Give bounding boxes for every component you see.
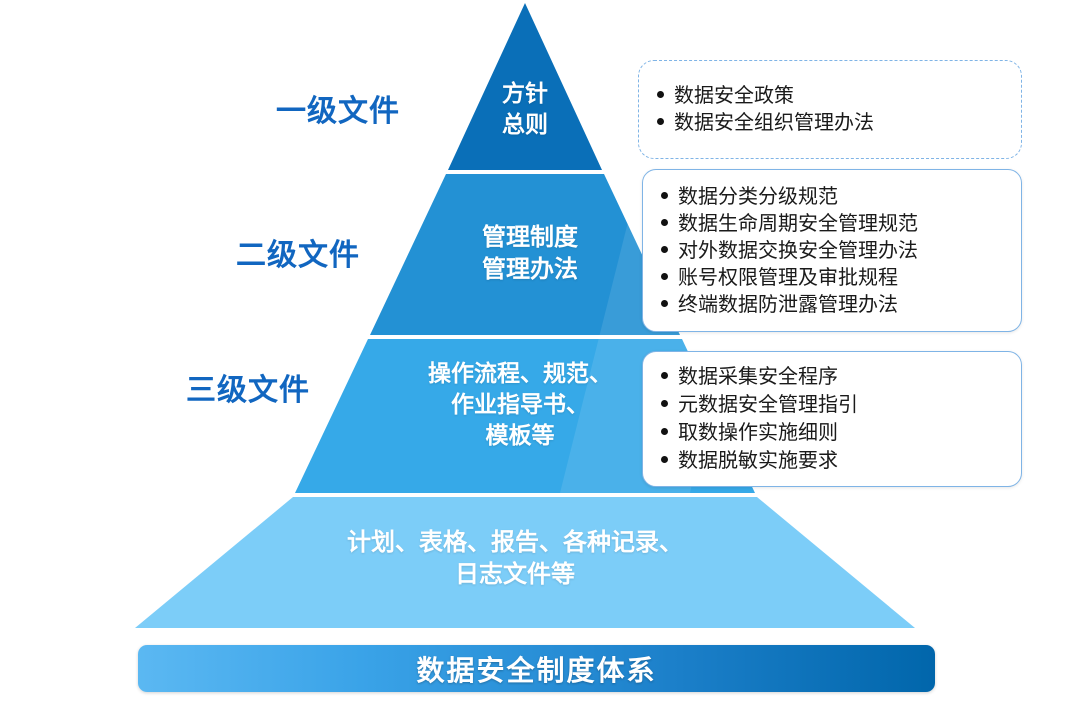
bullet-icon [661,300,668,307]
callout-list-level-3: 数据采集安全程序 元数据安全管理指引 取数操作实施细则 数据脱敏实施要求 [661,367,1005,471]
tier-caption-records: 计划、表格、报告、各种记录、 日志文件等 [260,527,770,591]
callout-box-level-2: 数据分类分级规范 数据生命周期安全管理规范 对外数据交换安全管理办法 账号权限管… [642,169,1022,332]
list-item: 取数操作实施细则 [661,423,1005,443]
callout-list-level-2: 数据分类分级规范 数据生命周期安全管理规范 对外数据交换安全管理办法 账号权限管… [661,187,1005,315]
list-item-label: 数据脱敏实施要求 [678,451,838,471]
list-item-label: 数据分类分级规范 [678,187,838,207]
callout-box-level-1: 数据安全政策 数据安全组织管理办法 [638,60,1022,159]
level-label-third: 三级文件 [10,365,310,409]
bullet-icon [657,118,664,125]
list-item: 终端数据防泄露管理办法 [661,295,1005,315]
bullet-icon [657,91,664,98]
list-item: 元数据安全管理指引 [661,395,1005,415]
list-item: 数据生命周期安全管理规范 [661,214,1005,234]
bullet-icon [661,400,668,407]
bullet-icon [661,428,668,435]
callout-list-level-1: 数据安全政策 数据安全组织管理办法 [657,79,1005,140]
list-item-label: 数据采集安全程序 [678,367,838,387]
footer-title-bar: 数据安全制度体系 [138,645,935,692]
tier-caption-policy: 方针 总则 [440,78,610,140]
bullet-icon [661,273,668,280]
bullet-icon [661,372,668,379]
list-item: 数据安全政策 [657,86,1005,106]
bullet-icon [661,456,668,463]
footer-title-label: 数据安全制度体系 [416,649,656,689]
list-item: 数据安全组织管理办法 [657,113,1005,133]
list-item: 对外数据交换安全管理办法 [661,241,1005,261]
list-item-label: 账号权限管理及审批规程 [678,268,898,288]
list-item: 数据采集安全程序 [661,367,1005,387]
list-item: 数据分类分级规范 [661,187,1005,207]
tier-caption-management-system: 管理制度 管理办法 [420,222,640,286]
callout-box-level-3: 数据采集安全程序 元数据安全管理指引 取数操作实施细则 数据脱敏实施要求 [642,351,1022,487]
list-item-label: 元数据安全管理指引 [678,395,858,415]
level-label-first: 一级文件 [100,86,400,130]
list-item: 数据脱敏实施要求 [661,451,1005,471]
list-item-label: 数据安全组织管理办法 [674,113,874,133]
diagram-canvas: 一级文件 二级文件 三级文件 方针 总则 管理制度 管理办法 操作流程、规范、 … [0,0,1080,701]
level-label-second: 二级文件 [60,230,360,274]
list-item: 账号权限管理及审批规程 [661,268,1005,288]
list-item-label: 对外数据交换安全管理办法 [678,241,918,261]
bullet-icon [661,192,668,199]
bullet-icon [661,219,668,226]
tier-caption-procedures: 操作流程、规范、 作业指导书、 模板等 [395,358,645,450]
list-item-label: 取数操作实施细则 [678,423,838,443]
list-item-label: 数据生命周期安全管理规范 [678,214,918,234]
list-item-label: 数据安全政策 [674,86,794,106]
list-item-label: 终端数据防泄露管理办法 [678,295,898,315]
bullet-icon [661,246,668,253]
